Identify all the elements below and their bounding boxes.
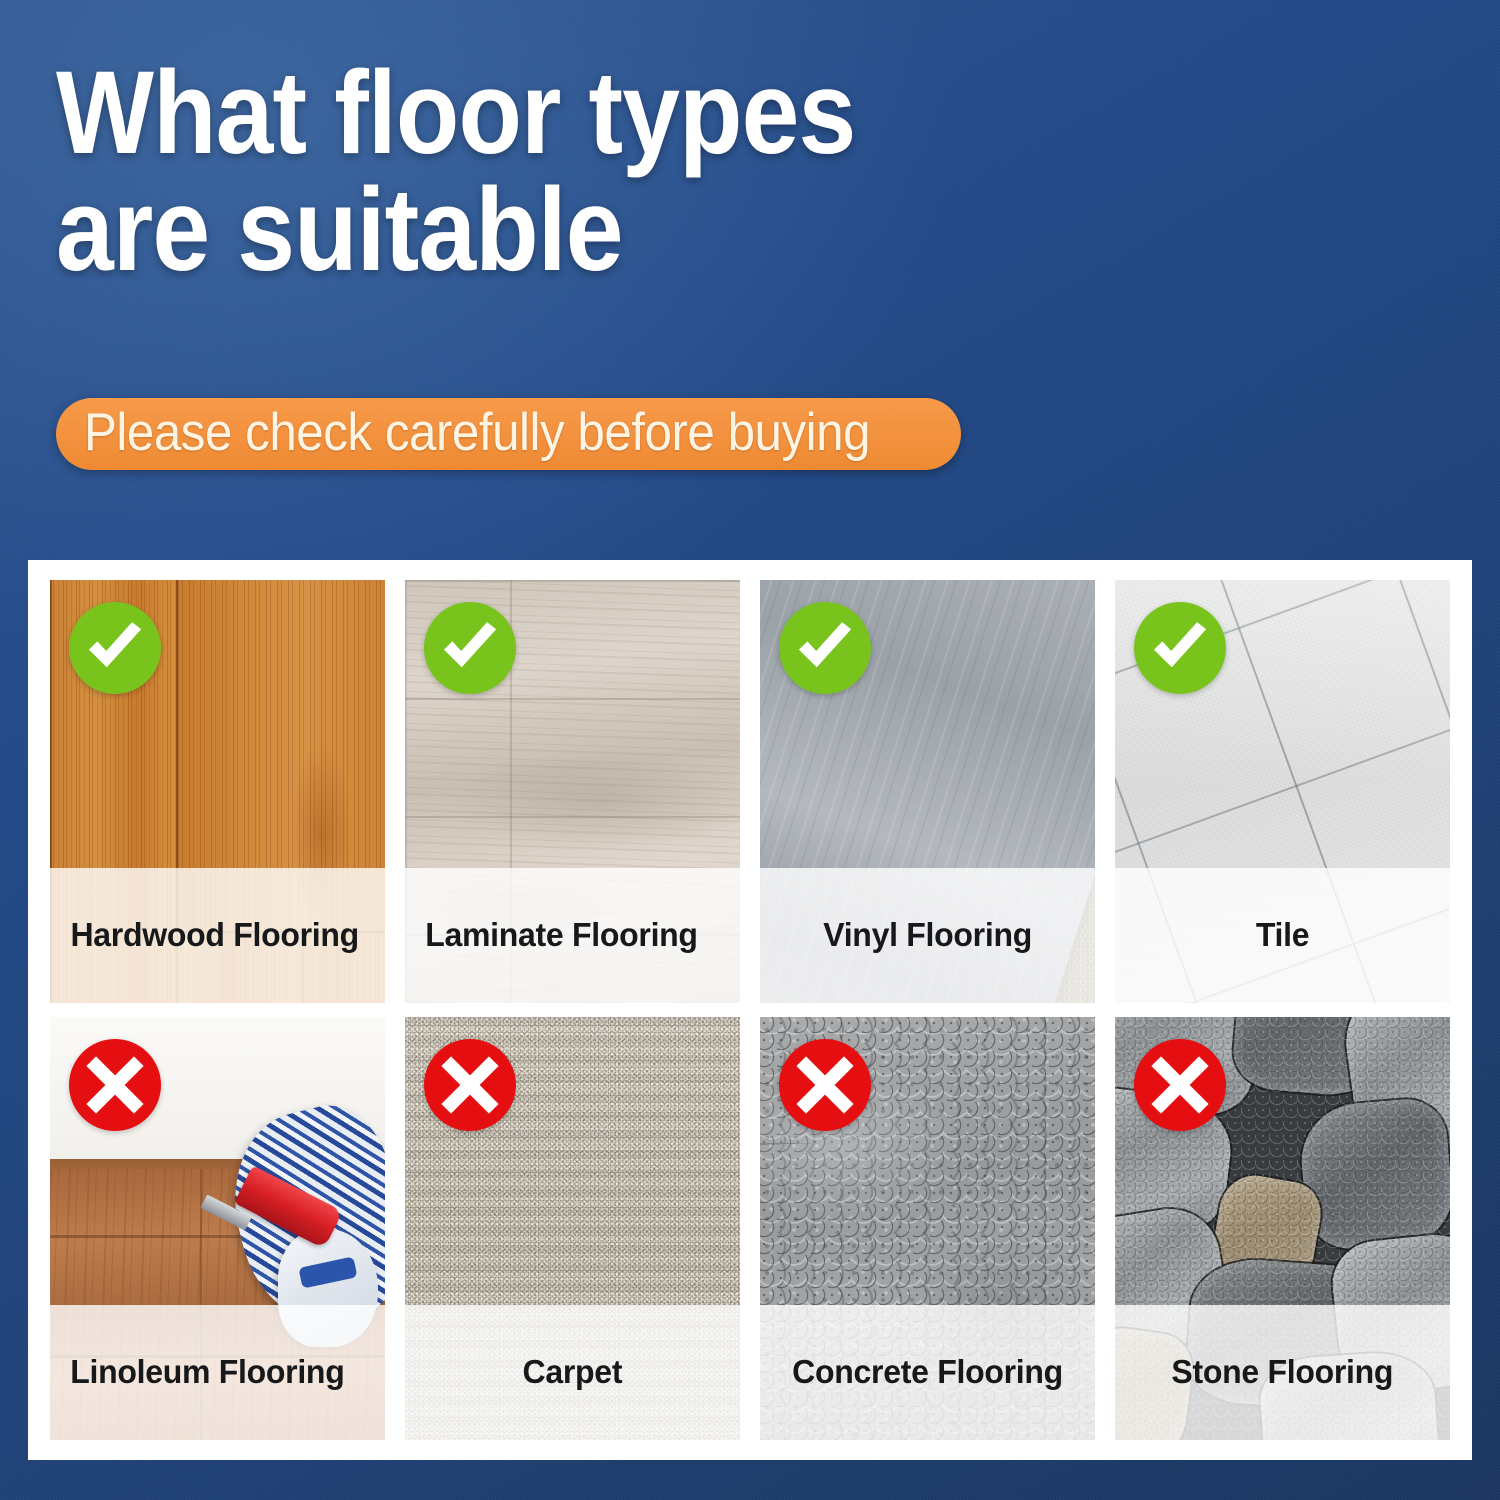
floor-card-hardwood[interactable]: Hardwood Flooring bbox=[50, 580, 385, 1003]
floor-card-linoleum[interactable]: Linoleum Flooring bbox=[50, 1017, 385, 1440]
card-label-band: Tile bbox=[1115, 868, 1450, 1003]
card-label: Stone Flooring bbox=[1172, 1353, 1394, 1391]
card-label: Vinyl Flooring bbox=[823, 916, 1032, 954]
page-title-line-1: What floor types bbox=[56, 47, 855, 179]
flooring-panel: Hardwood Flooring Laminate Flooring bbox=[28, 560, 1472, 1460]
flooring-grid: Hardwood Flooring Laminate Flooring bbox=[50, 580, 1450, 1440]
floor-card-laminate[interactable]: Laminate Flooring bbox=[405, 580, 740, 1003]
check-icon bbox=[1134, 602, 1226, 694]
floor-card-carpet[interactable]: Carpet bbox=[405, 1017, 740, 1440]
floor-card-stone[interactable]: Stone Flooring bbox=[1115, 1017, 1450, 1440]
card-label: Linoleum Flooring bbox=[70, 1353, 344, 1391]
card-label: Hardwood Flooring bbox=[70, 916, 358, 954]
page-title: What floor types are suitable bbox=[56, 55, 1068, 289]
card-label: Tile bbox=[1256, 916, 1309, 954]
card-label-band: Carpet bbox=[405, 1305, 740, 1440]
card-label-band: Vinyl Flooring bbox=[760, 868, 1095, 1003]
card-label: Laminate Flooring bbox=[425, 916, 697, 954]
check-icon bbox=[779, 602, 871, 694]
check-icon bbox=[69, 602, 161, 694]
floor-card-concrete[interactable]: Concrete Flooring bbox=[760, 1017, 1095, 1440]
card-label-band: Laminate Flooring bbox=[405, 868, 740, 1003]
cross-icon bbox=[1134, 1039, 1226, 1131]
floor-card-tile[interactable]: Tile bbox=[1115, 580, 1450, 1003]
cross-icon bbox=[69, 1039, 161, 1131]
card-label-band: Hardwood Flooring bbox=[50, 868, 385, 1003]
check-icon bbox=[424, 602, 516, 694]
page-title-line-2: are suitable bbox=[56, 172, 1068, 289]
floor-card-vinyl[interactable]: Vinyl Flooring bbox=[760, 580, 1095, 1003]
card-label-band: Linoleum Flooring bbox=[50, 1305, 385, 1440]
subtitle-text: Please check carefully before buying bbox=[84, 402, 870, 463]
cross-icon bbox=[424, 1039, 516, 1131]
card-label-band: Concrete Flooring bbox=[760, 1305, 1095, 1440]
card-label: Concrete Flooring bbox=[792, 1353, 1063, 1391]
infographic-page: What floor types are suitable Please che… bbox=[0, 0, 1500, 1500]
card-label-band: Stone Flooring bbox=[1115, 1305, 1450, 1440]
card-label: Carpet bbox=[523, 1353, 623, 1391]
cross-icon bbox=[779, 1039, 871, 1131]
subtitle-pill: Please check carefully before buying bbox=[56, 398, 961, 470]
